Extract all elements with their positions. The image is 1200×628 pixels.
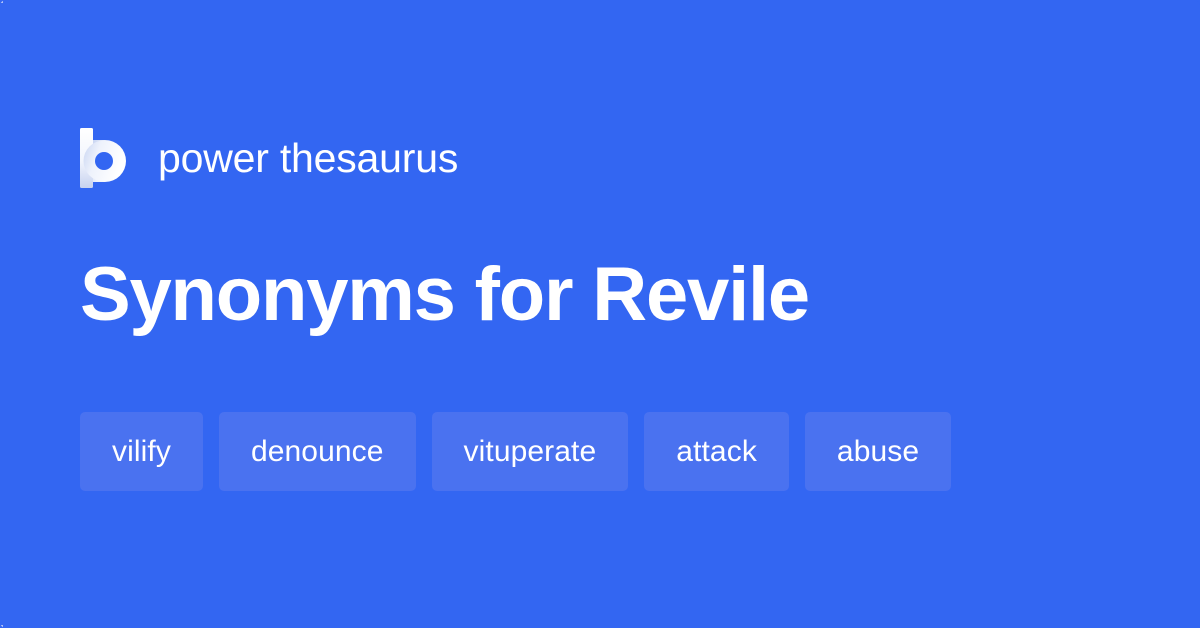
power-thesaurus-b-logo-icon bbox=[80, 128, 128, 188]
synonym-chip[interactable]: attack bbox=[644, 412, 789, 491]
brand-header[interactable]: power thesaurus bbox=[80, 126, 458, 190]
page-title: Synonyms for Revile bbox=[80, 252, 809, 338]
synonym-chip[interactable]: vituperate bbox=[432, 412, 629, 491]
synonym-chip-list: vilify denounce vituperate attack abuse bbox=[80, 412, 1120, 491]
synonym-chip[interactable]: denounce bbox=[219, 412, 416, 491]
synonym-chip[interactable]: abuse bbox=[805, 412, 951, 491]
corner-artifact-top-left bbox=[0, 0, 3, 3]
synonym-chip[interactable]: vilify bbox=[80, 412, 203, 491]
share-card: power thesaurus Synonyms for Revile vili… bbox=[0, 0, 1200, 628]
brand-name: power thesaurus bbox=[158, 138, 458, 179]
